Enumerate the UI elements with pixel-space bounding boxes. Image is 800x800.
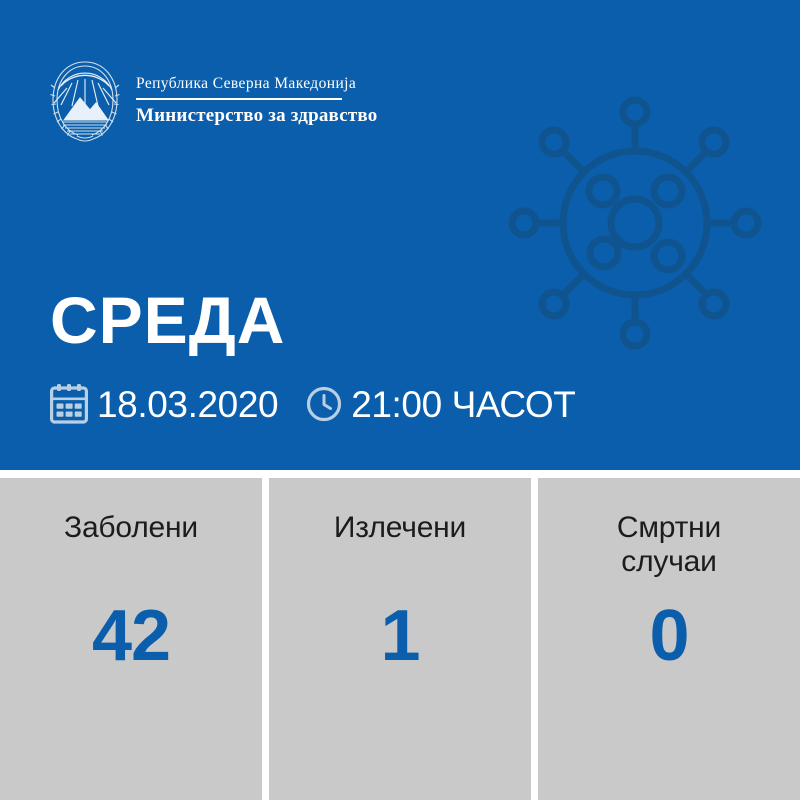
stat-panel-infected: Заболени 42 — [0, 478, 262, 800]
logo-divider — [136, 98, 342, 100]
stat-label-infected: Заболени — [64, 511, 198, 545]
stat-value-deaths: 0 — [538, 600, 800, 672]
ministry-logo: Република Северна Македонија Министерств… — [48, 58, 377, 142]
date-time-row: 18.03.2020 21:00 ЧАСОТ — [50, 378, 575, 430]
clock-icon — [306, 386, 342, 422]
stat-label-deaths-line1: Смртни — [617, 511, 721, 544]
stat-label-recovered: Излечени — [334, 511, 466, 545]
ministry-name: Министерство за здравство — [136, 105, 377, 128]
report-time: 21:00 ЧАСОТ — [351, 386, 575, 423]
report-date: 18.03.2020 — [97, 386, 278, 423]
stat-value-recovered: 1 — [269, 600, 531, 672]
stat-label-deaths-line2: случаи — [621, 545, 716, 578]
covid-daily-report-card: Република Северна Македонија Министерств… — [0, 0, 800, 800]
time-group: 21:00 ЧАСОТ — [306, 386, 575, 423]
stat-label-deaths: Смртни случаи — [617, 511, 721, 578]
stat-value-infected: 42 — [0, 600, 262, 672]
virus-icon — [500, 80, 800, 380]
header-banner: Република Северна Македонија Министерств… — [0, 0, 800, 470]
stat-panel-deaths: Смртни случаи 0 — [538, 478, 800, 800]
statistics-panels: Заболени 42 Излечени 1 Смртни — [0, 478, 800, 800]
country-name: Република Северна Македонија — [136, 75, 377, 94]
calendar-icon — [50, 384, 88, 424]
coat-of-arms-icon — [48, 58, 122, 142]
ministry-logo-text: Република Северна Македонија Министерств… — [136, 73, 377, 128]
stat-panel-recovered: Излечени 1 — [269, 478, 531, 800]
date-group: 18.03.2020 — [50, 384, 278, 424]
day-title: СРЕДА — [50, 287, 285, 353]
